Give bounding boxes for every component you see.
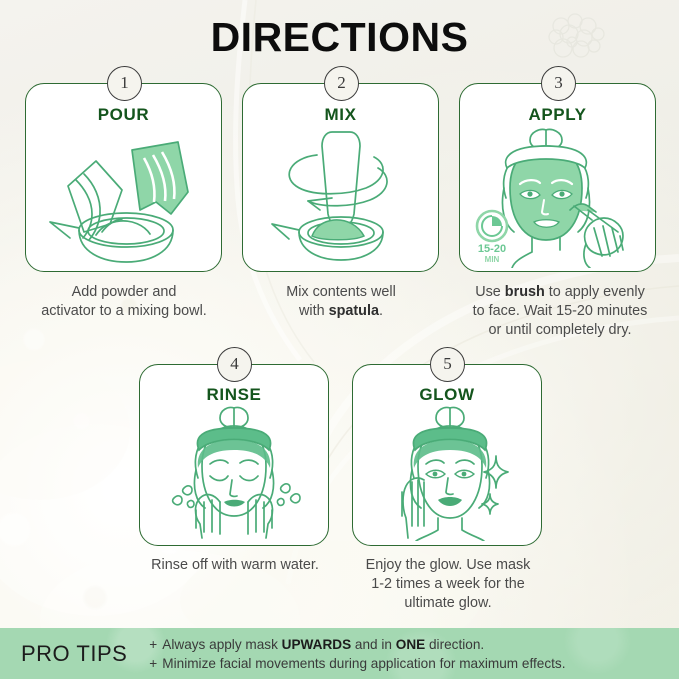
caption-line: Mix contents well: [227, 283, 455, 302]
caption-line: ultimate glow.: [337, 594, 559, 613]
caption-line: Use brush to apply evenly: [449, 283, 671, 302]
pro-tips-bar: PRO TIPS +Always apply mask UPWARDS and …: [0, 628, 679, 679]
caption-line: with spatula.: [227, 302, 455, 321]
step-caption-rinse: Rinse off with warm water.: [124, 556, 346, 575]
tip-text: direction.: [425, 637, 484, 652]
plus-icon: +: [149, 635, 162, 654]
caption-text: .: [379, 303, 383, 319]
caption-line: 1-2 times a week for the: [337, 575, 559, 594]
step-title-pour: POUR: [25, 105, 222, 125]
tip-text: Minimize facial movements during applica…: [162, 656, 565, 671]
caption-line: to face. Wait 15-20 minutes: [449, 302, 671, 321]
glowing-face-sparkles-icon: [374, 406, 522, 541]
step-caption-apply: Use brush to apply evenly to face. Wait …: [449, 283, 671, 340]
caption-text: Use: [475, 284, 505, 300]
step-number-2: 2: [324, 66, 359, 101]
timer-value: 15-20: [478, 243, 506, 255]
caption-line: Rinse off with warm water.: [124, 556, 346, 575]
step-caption-mix: Mix contents well with spatula.: [227, 283, 455, 321]
step-number-3: 3: [541, 66, 576, 101]
pouring-sachets-into-bowl-icon: [40, 128, 207, 266]
caption-bold: spatula: [329, 303, 379, 319]
step-title-glow: GLOW: [352, 385, 542, 405]
caption-line: or until completely dry.: [449, 321, 671, 340]
tip-bold: UPWARDS: [282, 637, 351, 652]
step-caption-glow: Enjoy the glow. Use mask 1-2 times a wee…: [337, 556, 559, 613]
washing-face-icon: [158, 406, 310, 541]
pro-tip-item: +Minimize facial movements during applic…: [149, 654, 565, 673]
tip-text: and in: [351, 637, 396, 652]
pro-tip-item: +Always apply mask UPWARDS and in ONE di…: [149, 635, 565, 654]
page-title: DIRECTIONS: [0, 14, 679, 61]
face-mask-brush-icon: 15-20 MIN: [470, 128, 646, 268]
timer-unit: MIN: [485, 255, 500, 264]
step-title-rinse: RINSE: [139, 385, 329, 405]
plus-icon: +: [149, 654, 162, 673]
tip-bold: ONE: [396, 637, 425, 652]
caption-line: activator to a mixing bowl.: [10, 302, 238, 321]
pro-tips-label: PRO TIPS: [21, 641, 127, 667]
caption-line: Add powder and: [10, 283, 238, 302]
caption-text: to apply evenly: [545, 284, 645, 300]
step-number-5: 5: [430, 347, 465, 382]
step-title-apply: APPLY: [459, 105, 656, 125]
spatula-stirring-bowl-icon: [262, 128, 420, 264]
step-caption-pour: Add powder and activator to a mixing bow…: [10, 283, 238, 321]
timer-badge: [477, 211, 507, 241]
caption-bold: brush: [505, 284, 545, 300]
caption-line: Enjoy the glow. Use mask: [337, 556, 559, 575]
step-number-1: 1: [107, 66, 142, 101]
tip-text: Always apply mask: [162, 637, 281, 652]
pro-tips-list: +Always apply mask UPWARDS and in ONE di…: [149, 635, 565, 673]
caption-text: with: [299, 303, 329, 319]
step-number-4: 4: [217, 347, 252, 382]
step-title-mix: MIX: [242, 105, 439, 125]
